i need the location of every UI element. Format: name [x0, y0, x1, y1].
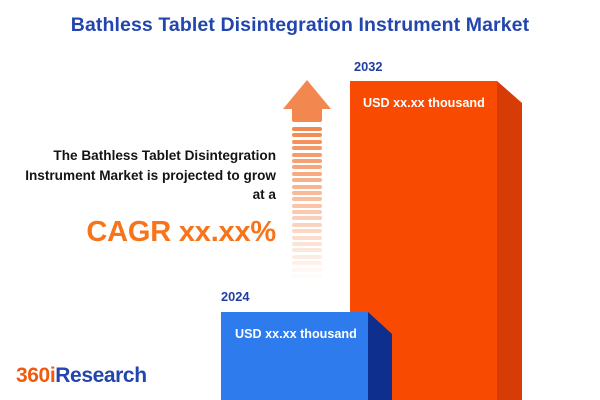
bar-2024-year-label: 2024	[221, 289, 249, 304]
bar-2024-side-face	[368, 312, 392, 400]
market-infographic: Bathless Tablet Disintegration Instrumen…	[0, 0, 600, 400]
bar-2024-front-face	[221, 312, 368, 400]
projection-statement: The Bathless Tablet Disintegration Instr…	[18, 146, 276, 205]
statement-block: The Bathless Tablet Disintegration Instr…	[18, 146, 276, 249]
bar-2024-value-label: USD xx.xx thousand	[235, 327, 357, 341]
brand-logo-part-two: Research	[55, 364, 146, 387]
brand-logo: 360iResearch	[16, 364, 147, 388]
brand-logo-part-one: 360i	[16, 364, 55, 387]
cagr-value: CAGR xx.xx%	[18, 216, 276, 249]
